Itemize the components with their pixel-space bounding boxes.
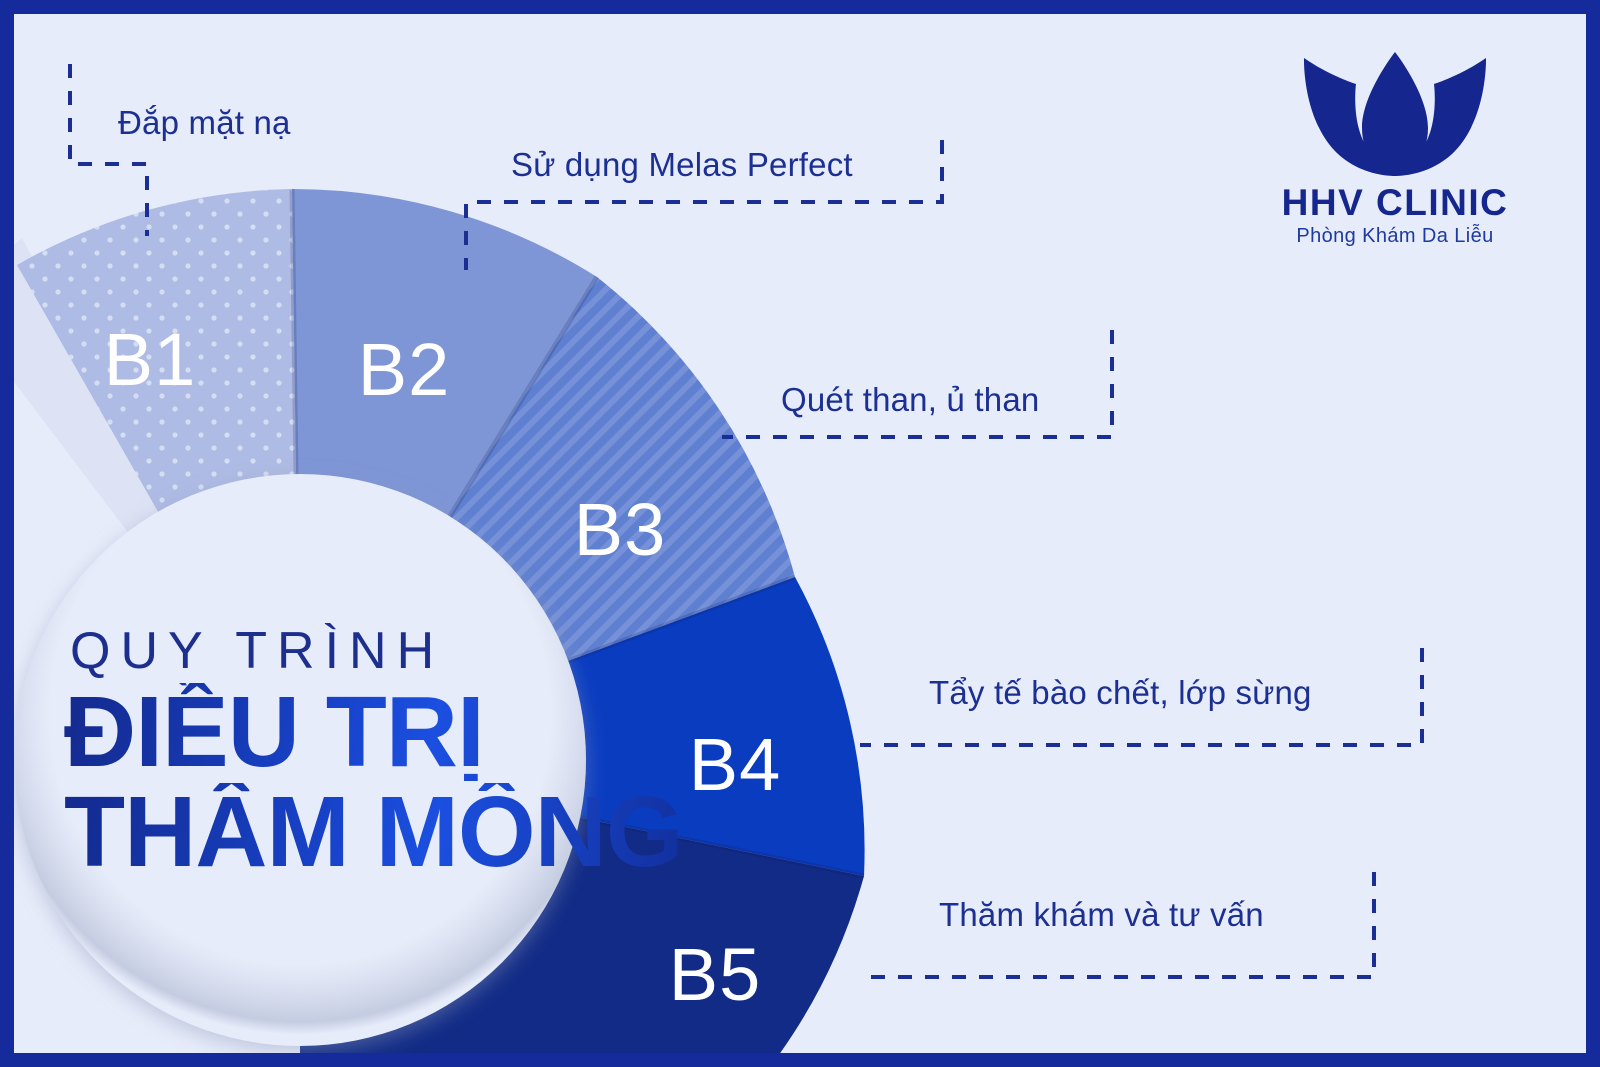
connector-b1	[70, 64, 147, 236]
title-line-2: THÂM MÔNG	[64, 783, 680, 881]
brand-logo: HHV CLINIC Phòng Khám Da Liễu	[1270, 50, 1520, 248]
callout-label-b5: Thăm khám và tư vấn	[939, 896, 1264, 934]
callout-label-b3: Quét than, ủ than	[781, 381, 1039, 419]
brand-name: HHV CLINIC	[1270, 184, 1520, 223]
center-title-block: QUY TRÌNH ĐIỀU TRỊ THÂM MÔNG	[60, 624, 680, 881]
brand-tagline: Phòng Khám Da Liễu	[1270, 225, 1520, 248]
poster-canvas: B1 B2 B3 B4 B5 Đắp mặt nạ Sử dụng Melas …	[14, 14, 1586, 1053]
lotus-flame-icon	[1300, 50, 1490, 180]
callout-label-b2: Sử dụng Melas Perfect	[511, 146, 853, 184]
eyebrow-text: QUY TRÌNH	[70, 624, 680, 679]
callout-label-b1: Đắp mặt nạ	[118, 104, 291, 142]
poster-frame: B1 B2 B3 B4 B5 Đắp mặt nạ Sử dụng Melas …	[0, 0, 1600, 1067]
callout-label-b4: Tẩy tế bào chết, lớp sừng	[929, 674, 1312, 712]
title-line-1: ĐIỀU TRỊ	[64, 683, 680, 781]
